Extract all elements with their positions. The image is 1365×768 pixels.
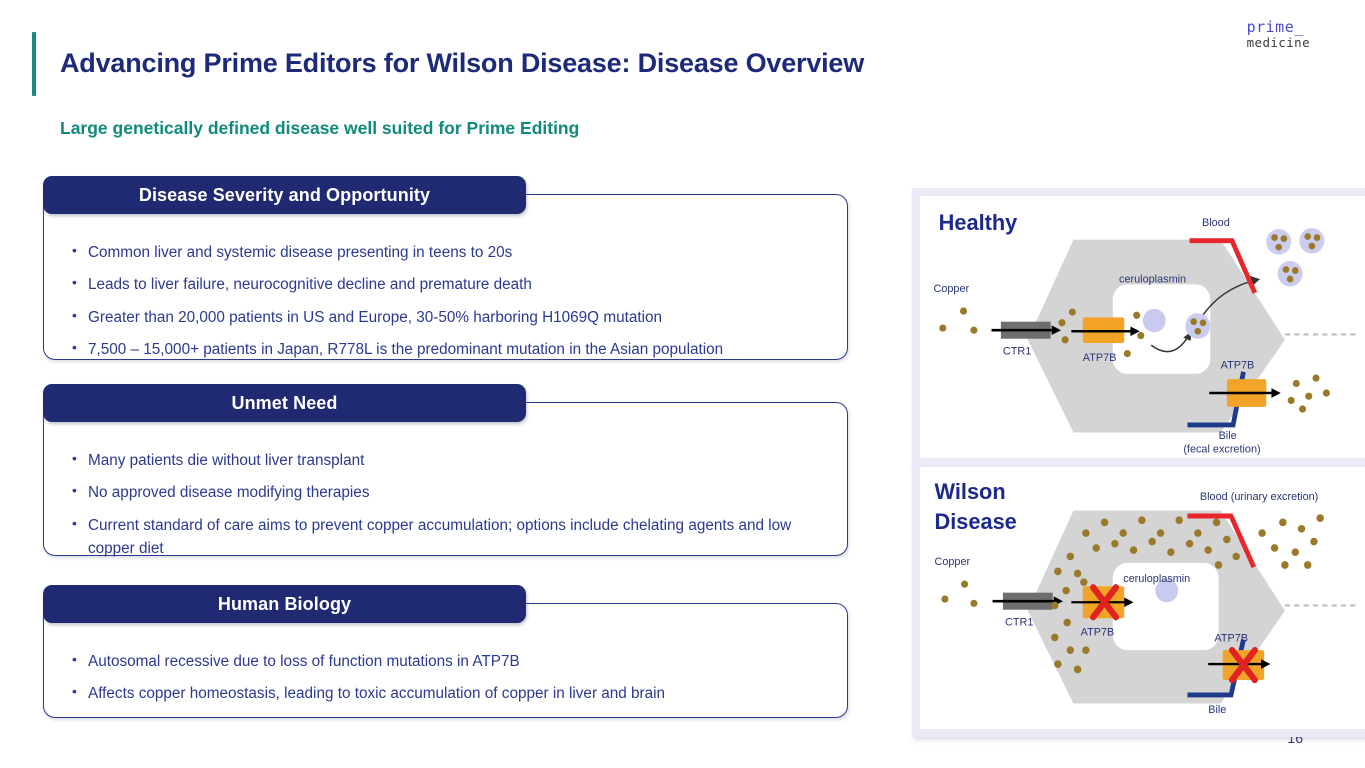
label-copper: Copper (935, 556, 971, 568)
label-copper: Copper (933, 283, 969, 295)
copper-ions-blood (1258, 514, 1324, 569)
page-title: Advancing Prime Editors for Wilson Disea… (60, 48, 864, 79)
diagram-healthy-canvas: Healthy Copper CTR1 ATP7B ceruloplasmin … (920, 196, 1365, 458)
list-item: Autosomal recessive due to loss of funct… (72, 650, 833, 673)
copper-ceruloplasmin-vesicles-blood (1266, 228, 1324, 287)
label-ctr1: CTR1 (1005, 617, 1033, 629)
diagram-wilson-title-line1: Wilson (935, 479, 1006, 504)
panel-human-biology: Autosomal recessive due to loss of funct… (43, 585, 848, 718)
label-bile-sublabel: (fecal excretion) (1183, 444, 1260, 456)
copper-ceruloplasmin-vesicle-intracellular (1185, 313, 1210, 339)
label-ctr1: CTR1 (1003, 346, 1031, 358)
label-bile: Bile (1208, 704, 1226, 716)
label-blood: Blood (1202, 217, 1230, 229)
panel-caption-label: Human Biology (218, 594, 351, 615)
panel-caption-unmet-need: Unmet Need (43, 384, 526, 422)
copper-ions-extracellular (939, 307, 977, 333)
bullet-list: Autosomal recessive due to loss of funct… (44, 650, 833, 715)
list-item: No approved disease modifying therapies (72, 481, 833, 504)
panel-caption-disease-severity: Disease Severity and Opportunity (43, 176, 526, 214)
diagram-wilson-canvas: Wilson Disease Copper CTR1 ATP7B cerulop… (920, 467, 1365, 729)
list-item: Common liver and systemic disease presen… (72, 241, 833, 264)
label-atp7b-bile: ATP7B (1221, 359, 1255, 371)
panel-disease-severity: Common liver and systemic disease presen… (43, 176, 848, 360)
title-accent-bar (32, 32, 36, 96)
panel-unmet-need: Many patients die without liver transpla… (43, 384, 848, 556)
prime-medicine-logo: prime_ medicine (1247, 20, 1310, 49)
list-item: Many patients die without liver transpla… (72, 449, 833, 472)
label-ceruloplasmin: ceruloplasmin (1119, 273, 1186, 285)
slide-root: Advancing Prime Editors for Wilson Disea… (0, 0, 1365, 768)
diagram-healthy: Healthy Copper CTR1 ATP7B ceruloplasmin … (912, 188, 1365, 466)
list-item: Current standard of care aims to prevent… (72, 514, 833, 561)
label-atp7b-cytosolic: ATP7B (1081, 626, 1115, 638)
ceruloplasmin-protein (1143, 309, 1166, 332)
list-item: Affects copper homeostasis, leading to t… (72, 682, 833, 705)
page-subtitle: Large genetically defined disease well s… (60, 118, 579, 139)
bullet-list: Common liver and systemic disease presen… (44, 241, 833, 370)
panel-caption-label: Disease Severity and Opportunity (139, 185, 430, 206)
logo-secondary-text: medicine (1247, 36, 1310, 49)
list-item: Greater than 20,000 patients in US and E… (72, 306, 833, 329)
copper-ions-bile-export (1288, 375, 1330, 413)
panel-body: Many patients die without liver transpla… (43, 402, 848, 556)
bullet-list: Many patients die without liver transpla… (44, 449, 833, 569)
diagram-wilson-title-line2: Disease (935, 509, 1017, 534)
label-blood: Blood (urinary excretion) (1200, 491, 1318, 503)
panel-caption-label: Unmet Need (231, 393, 337, 414)
label-ceruloplasmin: ceruloplasmin (1123, 573, 1190, 585)
panel-body: Common liver and systemic disease presen… (43, 194, 848, 360)
logo-primary-text: prime_ (1247, 20, 1310, 36)
copper-ions-extracellular (941, 581, 977, 607)
label-atp7b-cytosolic: ATP7B (1083, 352, 1117, 364)
list-item: 7,500 – 15,000+ patients in Japan, R778L… (72, 338, 833, 361)
label-atp7b-bile: ATP7B (1214, 633, 1248, 645)
panel-caption-human-biology: Human Biology (43, 585, 526, 623)
diagram-healthy-title: Healthy (939, 210, 1018, 235)
wilson-illustration: Wilson Disease Copper CTR1 ATP7B cerulop… (920, 467, 1365, 729)
healthy-illustration: Healthy Copper CTR1 ATP7B ceruloplasmin … (920, 196, 1365, 458)
label-bile: Bile (1219, 430, 1237, 442)
diagram-wilson-disease: Wilson Disease Copper CTR1 ATP7B cerulop… (912, 459, 1365, 737)
list-item: Leads to liver failure, neurocognitive d… (72, 273, 833, 296)
